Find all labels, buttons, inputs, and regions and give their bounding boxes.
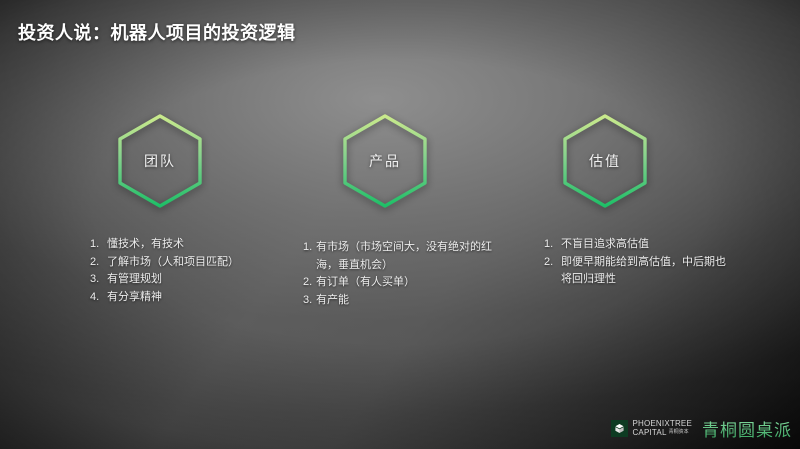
list-item: 3. 有产能 [303, 292, 499, 310]
list-item: 2. 了解市场（人和项目匹配） [90, 254, 290, 272]
list-item-text: 有产能 [316, 292, 349, 310]
list-item: 2. 有订单（有人买单） [303, 274, 499, 292]
list-item-text: 有分享精神 [107, 289, 162, 307]
list-item-number: 1. [90, 236, 107, 254]
hexagon-product-label: 产品 [339, 112, 431, 210]
list-valuation: 1. 不盲目追求高估值 2. 即便早期能给到高估值，中后期也将回归理性 [544, 236, 726, 289]
hexagon-valuation-label: 估值 [559, 112, 651, 210]
footer-logo: PHOENIXTREE CAPITAL 青桐资本 青桐圆桌派 [611, 416, 792, 441]
hexagon-valuation: 估值 [559, 112, 651, 210]
hexagon-team: 团队 [114, 112, 206, 210]
list-item: 2. 即便早期能给到高估值，中后期也将回归理性 [544, 254, 726, 289]
hexagon-product: 产品 [339, 112, 431, 210]
phoenixtree-capital-logo: PHOENIXTREE CAPITAL 青桐资本 [611, 420, 692, 437]
list-item-number: 4. [90, 289, 107, 307]
program-name: 青桐圆桌派 [702, 416, 792, 441]
list-item-number: 3. [90, 271, 107, 289]
list-team: 1. 懂技术，有技术 2. 了解市场（人和项目匹配） 3. 有管理规划 4. 有… [90, 236, 290, 306]
list-item: 4. 有分享精神 [90, 289, 290, 307]
list-item-text: 不盲目追求高估值 [561, 236, 649, 254]
slide-canvas: 投资人说：机器人项目的投资逻辑 团队 1. 懂技术，有技术 [0, 0, 800, 449]
brand-en-line2: CAPITAL [632, 429, 666, 438]
list-item: 1. 懂技术，有技术 [90, 236, 290, 254]
page-title: 投资人说：机器人项目的投资逻辑 [18, 19, 296, 45]
list-item-number: 1. [544, 236, 561, 254]
brand-cn-small: 青桐资本 [669, 428, 689, 437]
list-item-text: 懂技术，有技术 [107, 236, 184, 254]
list-item-text: 即便早期能给到高估值，中后期也将回归理性 [561, 254, 726, 289]
list-item-text: 有订单（有人买单） [316, 274, 415, 292]
list-item-number: 1. [303, 239, 316, 274]
list-item: 3. 有管理规划 [90, 271, 290, 289]
list-item-text: 了解市场（人和项目匹配） [107, 254, 239, 272]
list-item-number: 3. [303, 292, 316, 310]
list-item-number: 2. [303, 274, 316, 292]
list-item-number: 2. [90, 254, 107, 272]
list-product: 1. 有市场（市场空间大，没有绝对的红海，垂直机会） 2. 有订单（有人买单） … [303, 239, 499, 309]
list-item: 1. 有市场（市场空间大，没有绝对的红海，垂直机会） [303, 239, 499, 274]
phoenixtree-mark-icon [611, 420, 628, 437]
list-item-text: 有管理规划 [107, 271, 162, 289]
phoenixtree-wordmark: PHOENIXTREE CAPITAL 青桐资本 [632, 420, 692, 437]
hexagon-team-label: 团队 [114, 112, 206, 210]
list-item: 1. 不盲目追求高估值 [544, 236, 726, 254]
list-item-number: 2. [544, 254, 561, 289]
list-item-text: 有市场（市场空间大，没有绝对的红海，垂直机会） [316, 239, 499, 274]
brand-row-2: CAPITAL 青桐资本 [632, 429, 692, 438]
